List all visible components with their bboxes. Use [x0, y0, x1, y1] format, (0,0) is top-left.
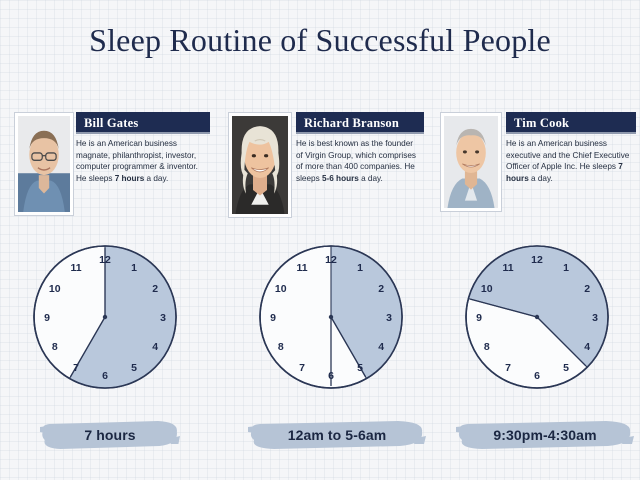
person-card-tim-cook: Tim Cook He is an American business exec… [440, 112, 636, 216]
avatar-frame [228, 112, 292, 218]
bill-gates-photo [18, 116, 70, 212]
clock-svg-1: 121234567891011 [256, 242, 406, 392]
clock-numeral-4: 4 [152, 341, 158, 353]
desc-text-after: a day. [529, 174, 553, 183]
person-card-richard-branson: Richard Branson He is best known as the … [228, 112, 424, 216]
caption-bill-gates: 7 hours [40, 418, 180, 452]
caption-text: 9:30pm-4:30am [456, 418, 634, 452]
clock-numeral-5: 5 [131, 362, 137, 374]
clock-numeral-6: 6 [328, 370, 334, 382]
clock-numeral-9: 9 [44, 312, 50, 324]
clock-numeral-8: 8 [52, 341, 58, 353]
clock-numeral-9: 9 [270, 312, 276, 324]
desc-highlight: 5-6 hours [322, 174, 359, 183]
clock-numeral-5: 5 [357, 362, 363, 374]
clock-numeral-4: 4 [584, 341, 590, 353]
clock-numeral-11: 11 [296, 262, 307, 274]
person-name-bar: Bill Gates [76, 112, 210, 134]
clock-numeral-7: 7 [73, 362, 79, 374]
tim-cook-photo [444, 116, 498, 208]
clock-bill-gates: 121234567891011 [30, 242, 180, 392]
person-description: He is an American business executive and… [506, 138, 636, 184]
person-name-bar: Richard Branson [296, 112, 424, 134]
clock-numeral-8: 8 [278, 341, 284, 353]
richard-branson-photo [232, 116, 288, 214]
clock-numeral-6: 6 [102, 370, 108, 382]
clock-numeral-3: 3 [592, 312, 598, 324]
clock-numeral-10: 10 [275, 283, 287, 295]
person-card-bill-gates: Bill Gates He is an American business ma… [14, 112, 210, 216]
clock-numeral-2: 2 [378, 283, 384, 295]
clock-numeral-7: 7 [299, 362, 305, 374]
card-body: Tim Cook He is an American business exec… [506, 112, 636, 216]
clock-numeral-6: 6 [534, 370, 540, 382]
clock-numeral-7: 7 [505, 362, 511, 374]
desc-text-after: a day. [359, 174, 383, 183]
clock-numeral-4: 4 [378, 341, 384, 353]
clock-numeral-3: 3 [386, 312, 392, 324]
person-name: Bill Gates [84, 116, 138, 130]
clock-numeral-5: 5 [563, 362, 569, 374]
desc-text-after: a day. [144, 174, 168, 183]
card-body: Richard Branson He is best known as the … [296, 112, 424, 216]
clock-numeral-9: 9 [476, 312, 482, 324]
card-body: Bill Gates He is an American business ma… [76, 112, 210, 216]
desc-highlight: 7 hours [115, 174, 145, 183]
clock-tim-cook: 121234567891011 [462, 242, 612, 392]
clock-numeral-2: 2 [152, 283, 158, 295]
clock-numeral-8: 8 [484, 341, 490, 353]
clock-richard-branson: 121234567891011 [256, 242, 406, 392]
avatar-frame [14, 112, 74, 216]
avatar-frame [440, 112, 502, 212]
desc-text-before: He is an American business executive and… [506, 139, 629, 171]
clock-numeral-1: 1 [357, 262, 363, 274]
clock-svg-2: 121234567891011 [462, 242, 612, 392]
clock-numeral-10: 10 [481, 283, 493, 295]
person-name: Richard Branson [304, 116, 399, 130]
clock-numeral-11: 11 [70, 262, 81, 274]
person-name: Tim Cook [514, 116, 569, 130]
person-name-bar: Tim Cook [506, 112, 636, 134]
clock-numeral-1: 1 [563, 262, 569, 274]
caption-tim-cook: 9:30pm-4:30am [456, 418, 634, 452]
clock-numeral-2: 2 [584, 283, 590, 295]
clock-numeral-3: 3 [160, 312, 166, 324]
clock-numeral-10: 10 [49, 283, 61, 295]
clock-svg-0: 121234567891011 [30, 242, 180, 392]
page-title: Sleep Routine of Successful People [0, 22, 640, 59]
clock-numeral-12: 12 [531, 254, 543, 266]
caption-richard-branson: 12am to 5-6am [248, 418, 426, 452]
person-description: He is an American business magnate, phil… [76, 138, 210, 184]
clock-numeral-1: 1 [131, 262, 137, 274]
person-description: He is best known as the founder of Virgi… [296, 138, 424, 184]
clock-numeral-12: 12 [99, 254, 111, 266]
caption-text: 7 hours [40, 418, 180, 452]
caption-text: 12am to 5-6am [248, 418, 426, 452]
clock-numeral-12: 12 [325, 254, 337, 266]
clock-numeral-11: 11 [502, 262, 513, 274]
